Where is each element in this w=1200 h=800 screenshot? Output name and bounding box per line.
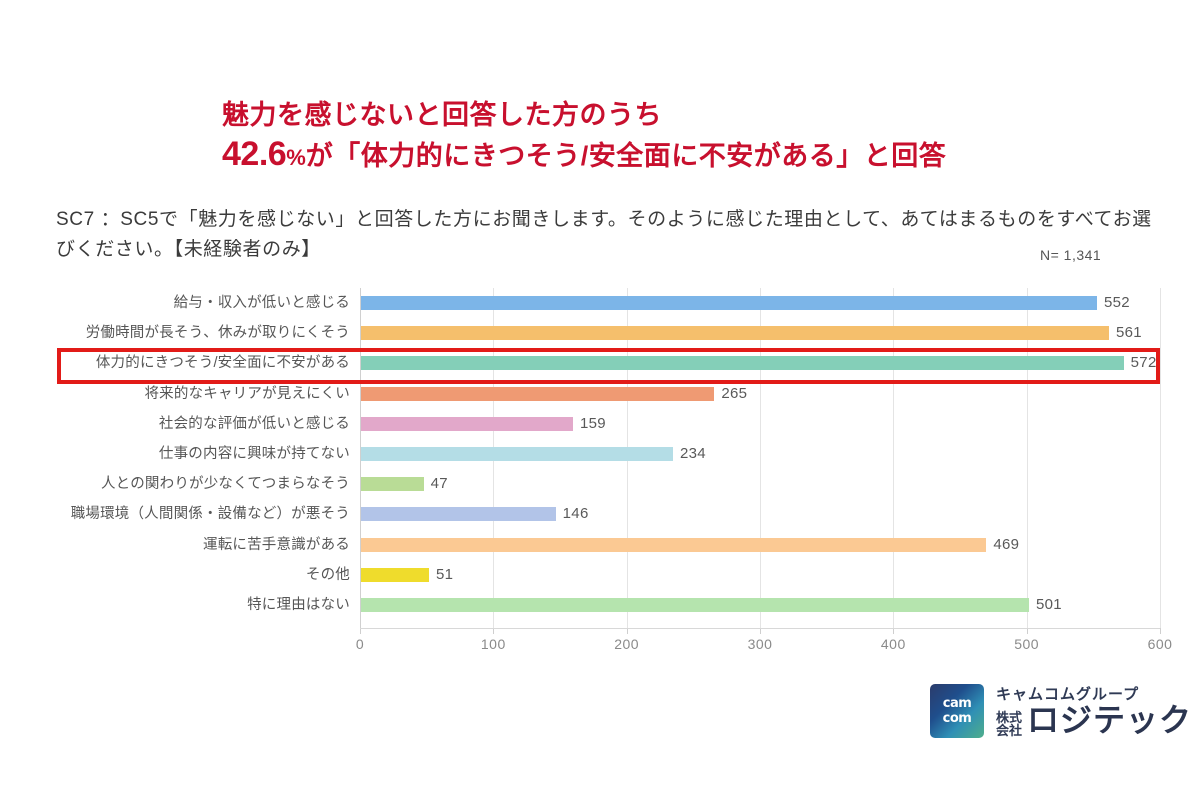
bar-value-label: 561 [1116, 318, 1142, 348]
question-text: SC7 ：SC5で「魅力を感じない」と回答した方にお聞きします。そのように感じた… [56, 205, 1156, 265]
logo-company-row: 株式 会社 ロジテック [996, 704, 1192, 737]
headline-line-2: 42.6%が「体力的にきつそう/安全面に不安がある」と回答 [222, 134, 1122, 181]
category-label: 仕事の内容に興味が持てない [50, 439, 350, 469]
category-label: 社会的な評価が低いと感じる [50, 409, 350, 439]
headline-percentage-sign: % [286, 145, 306, 170]
logo-mark-line-2: com [943, 712, 972, 725]
bar[interactable] [361, 598, 1029, 612]
bar-row[interactable]: 職場環境（人間関係・設備など）が悪そう146 [0, 499, 1200, 529]
bar[interactable] [361, 477, 424, 491]
logo-text-block: キャムコムグループ 株式 会社 ロジテック [996, 686, 1192, 737]
bar-value-label: 469 [993, 530, 1019, 560]
bar-row[interactable]: 運転に苦手意識がある469 [0, 530, 1200, 560]
x-tick-label-0: 0 [356, 636, 364, 652]
x-axis-line [360, 628, 1160, 629]
sample-size-label: N= 1,341 [1040, 247, 1101, 263]
logo-kabushiki-line-2: 会社 [996, 724, 1022, 737]
category-label: 給与・収入が低いと感じる [50, 288, 350, 318]
headline-line-2-text: が「体力的にきつそう/安全面に不安がある」と回答 [306, 141, 947, 171]
bar-row[interactable]: 給与・収入が低いと感じる552 [0, 288, 1200, 318]
bar-row[interactable]: 体力的にきつそう/安全面に不安がある572 [0, 348, 1200, 378]
category-label: 職場環境（人間関係・設備など）が悪そう [50, 499, 350, 529]
x-tick-label-100: 100 [481, 636, 506, 652]
logo-kabushiki-gaisha: 株式 会社 [996, 711, 1022, 737]
bar-row[interactable]: 労働時間が長そう、休みが取りにくそう561 [0, 318, 1200, 348]
category-label: 労働時間が長そう、休みが取りにくそう [50, 318, 350, 348]
x-tick-label-400: 400 [881, 636, 906, 652]
bar-value-label: 552 [1104, 288, 1130, 318]
bar-value-label: 572 [1131, 348, 1157, 378]
bar-row[interactable]: 人との関わりが少なくてつまらなそう47 [0, 469, 1200, 499]
bar[interactable] [361, 326, 1109, 340]
bar-value-label: 265 [721, 379, 747, 409]
bar-value-label: 501 [1036, 590, 1062, 620]
category-label: その他 [50, 560, 350, 590]
bar[interactable] [361, 538, 986, 552]
bar-value-label: 146 [563, 499, 589, 529]
bar-value-label: 159 [580, 409, 606, 439]
bar[interactable] [361, 568, 429, 582]
bar-value-label: 234 [680, 439, 706, 469]
x-tick-label-600: 600 [1148, 636, 1173, 652]
bar[interactable] [361, 387, 714, 401]
logo-group-name: キャムコムグループ [996, 686, 1192, 704]
category-label: 体力的にきつそう/安全面に不安がある [50, 348, 350, 378]
x-tick-label-500: 500 [1014, 636, 1039, 652]
category-label: 運転に苦手意識がある [50, 530, 350, 560]
x-tick-label-200: 200 [614, 636, 639, 652]
bar-chart: 0100200300400500600 給与・収入が低いと感じる552労働時間が… [0, 288, 1200, 648]
bar[interactable] [361, 417, 573, 431]
headline-line-1: 魅力を感じないと回答した方のうち [222, 98, 1122, 132]
category-label: 特に理由はない [50, 590, 350, 620]
logo-kabushiki-line-1: 株式 [996, 711, 1022, 724]
x-tick-label-300: 300 [748, 636, 773, 652]
bar[interactable] [361, 296, 1097, 310]
headline-block: 魅力を感じないと回答した方のうち 42.6%が「体力的にきつそう/安全面に不安が… [222, 98, 1122, 181]
bar-row[interactable]: 社会的な評価が低いと感じる159 [0, 409, 1200, 439]
logo-block: cam com キャムコムグループ 株式 会社 ロジテック [930, 684, 1192, 738]
bar[interactable] [361, 507, 556, 521]
bar-row[interactable]: 特に理由はない501 [0, 590, 1200, 620]
bar-value-label: 47 [431, 469, 448, 499]
x-tick-mark-600 [1160, 628, 1161, 634]
logo-company-name: ロジテック [1027, 704, 1192, 737]
logo-mark-line-1: cam [943, 697, 972, 710]
category-label: 人との関わりが少なくてつまらなそう [50, 469, 350, 499]
question-block: SC7 ：SC5で「魅力を感じない」と回答した方にお聞きします。そのように感じた… [56, 205, 1156, 265]
headline-percentage-number: 42.6 [222, 135, 286, 173]
bar[interactable] [361, 447, 673, 461]
camcom-logo-icon: cam com [930, 684, 984, 738]
bar[interactable] [361, 356, 1124, 370]
bar-row[interactable]: 仕事の内容に興味が持てない234 [0, 439, 1200, 469]
bar-row[interactable]: その他51 [0, 560, 1200, 590]
bar-value-label: 51 [436, 560, 453, 590]
category-label: 将来的なキャリアが見えにくい [50, 379, 350, 409]
bar-row[interactable]: 将来的なキャリアが見えにくい265 [0, 379, 1200, 409]
